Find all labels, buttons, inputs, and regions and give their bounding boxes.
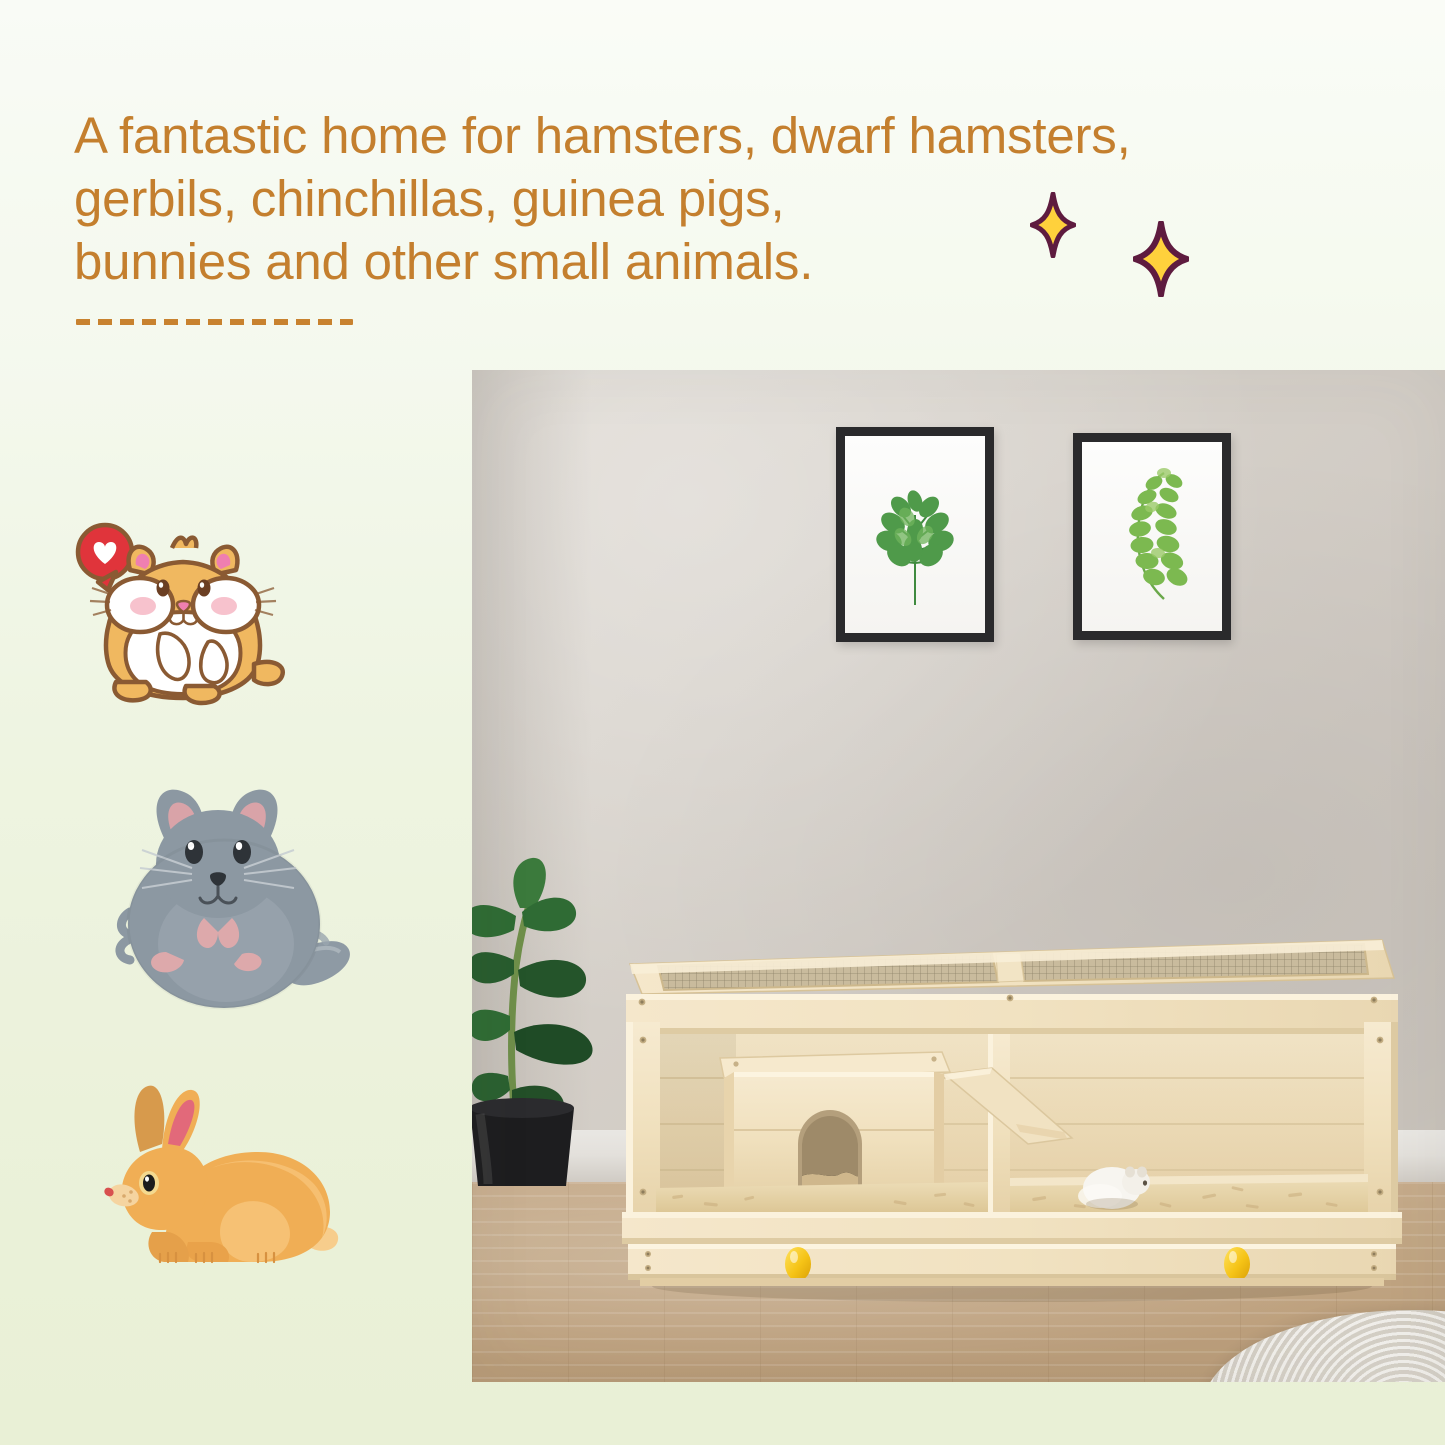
product-photo xyxy=(472,370,1445,1382)
illustration-rabbit xyxy=(92,1082,362,1282)
wooden-hamster-cage xyxy=(612,882,1412,1302)
potted-house-plant xyxy=(472,856,622,1186)
infographic-canvas: A fantastic home for hamsters, dwarf ham… xyxy=(0,0,1445,1445)
illustration-chinchilla xyxy=(108,772,358,1022)
drawer-knob-left xyxy=(785,1247,811,1281)
sparkle-star-small-icon xyxy=(1133,221,1189,297)
botanical-branch-art xyxy=(855,445,975,625)
wall-art-botanical-fern xyxy=(1073,433,1231,640)
art-mat xyxy=(845,436,985,633)
drawer-knob-right xyxy=(1224,1247,1250,1281)
illustration-hamster xyxy=(68,512,298,712)
botanical-fern-art xyxy=(1092,449,1212,624)
sparkle-star-large-icon xyxy=(1030,192,1076,258)
art-mat xyxy=(1082,442,1222,631)
dashed-divider xyxy=(76,319,353,325)
wall-art-botanical-branch xyxy=(836,427,994,642)
